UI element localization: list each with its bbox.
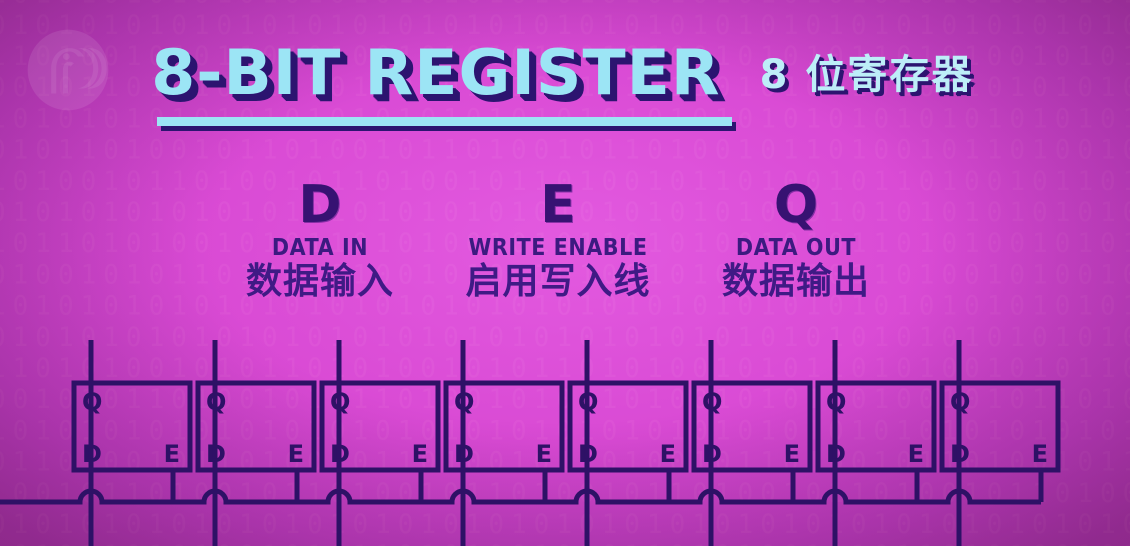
cell-label-e-2: E	[288, 440, 304, 468]
cell-label-d-4: D	[454, 440, 474, 468]
cell-label-q-7: Q	[826, 388, 846, 416]
cell-label-d-2: D	[206, 440, 226, 468]
cell-label-q-8: Q	[950, 388, 970, 416]
cell-label-q-5: Q	[578, 388, 598, 416]
cell-label-d-6: D	[702, 440, 722, 468]
cell-label-q-3: Q	[330, 388, 350, 416]
register-circuit-diagram: QDEQDEQDEQDEQDEQDEQDEQDE	[0, 0, 1130, 546]
cell-label-e-1: E	[164, 440, 180, 468]
cell-label-q-2: Q	[206, 388, 226, 416]
cell-label-d-3: D	[330, 440, 350, 468]
register-cell-1: QDE	[74, 340, 190, 546]
enable-bus-wire	[0, 491, 1041, 502]
cell-label-e-6: E	[784, 440, 800, 468]
cell-label-d-8: D	[950, 440, 970, 468]
register-cell-6: QDE	[694, 340, 810, 546]
register-cell-3: QDE	[322, 340, 438, 546]
cell-label-e-7: E	[908, 440, 924, 468]
cell-label-q-6: Q	[702, 388, 722, 416]
cell-label-e-4: E	[536, 440, 552, 468]
cell-label-e-5: E	[660, 440, 676, 468]
cell-label-e-3: E	[412, 440, 428, 468]
cell-label-e-8: E	[1032, 440, 1048, 468]
register-cell-4: QDE	[446, 340, 562, 546]
cell-label-d-1: D	[82, 440, 102, 468]
register-cell-5: QDE	[570, 340, 686, 546]
cell-label-q-4: Q	[454, 388, 474, 416]
register-cell-2: QDE	[198, 340, 314, 546]
register-cell-7: QDE	[818, 340, 934, 546]
register-cell-8: QDE	[942, 340, 1058, 546]
cell-label-q-1: Q	[82, 388, 102, 416]
cell-label-d-7: D	[826, 440, 846, 468]
cell-label-d-5: D	[578, 440, 598, 468]
